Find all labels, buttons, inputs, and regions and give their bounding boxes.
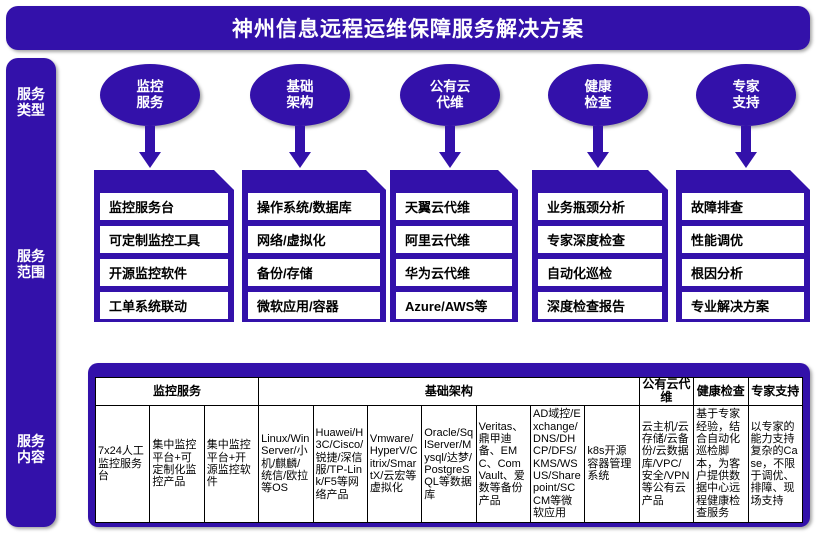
scope-item[interactable]: 微软应用/容器 [248,292,380,319]
row-label-rail: 服务 类型 服务 范围 服务 内容 [6,58,56,527]
table-cell[interactable]: Veritas、鼎甲迪备、EMC、ComVault、爱数等备份产品 [476,405,530,522]
category-node-public-cloud[interactable]: 公有云 代维 [400,64,500,126]
down-arrow-icon-4 [587,126,609,170]
table-header-monitoring: 监控服务 [96,378,259,406]
down-arrow-icon-1 [139,126,161,170]
scope-item[interactable]: Azure/AWS等 [396,292,512,319]
scope-item[interactable]: 自动化巡检 [538,259,662,286]
row-label-service-scope-line2: 范围 [6,264,56,280]
scope-card-infrastructure: 操作系统/数据库 网络/虚拟化 备份/存储 微软应用/容器 [242,170,386,322]
service-content-panel: 监控服务 基础架构 公有云代维 健康检查 专家支持 7x24人工监控服务台 集中… [88,363,810,527]
category-node-monitoring[interactable]: 监控 服务 [100,64,200,126]
scope-item[interactable]: 华为云代维 [396,259,512,286]
table-row: 7x24人工监控服务台 集中监控平台+可定制化监控产品 集中监控平台+开源监控软… [96,405,803,522]
down-arrow-icon-2 [289,126,311,170]
category-node-monitoring-line1: 监控 [137,79,164,95]
table-header-expert-support: 专家支持 [748,378,803,406]
scope-item[interactable]: 专业解决方案 [682,292,804,319]
category-node-infrastructure[interactable]: 基础 架构 [250,64,350,126]
scope-item[interactable]: 业务瓶颈分析 [538,193,662,220]
category-node-monitoring-line2: 服务 [137,95,164,111]
table-header-row: 监控服务 基础架构 公有云代维 健康检查 专家支持 [96,378,803,406]
row-label-service-scope-line1: 服务 [6,248,56,264]
down-arrow-icon-5 [735,126,757,170]
scope-item[interactable]: 故障排查 [682,193,804,220]
table-header-health-check: 健康检查 [694,378,748,406]
service-content-table: 监控服务 基础架构 公有云代维 健康检查 专家支持 7x24人工监控服务台 集中… [95,377,803,523]
category-node-infrastructure-line2: 架构 [287,95,314,111]
table-cell[interactable]: 云主机/云存储/云备份/云数据库/VPC/安全/VPN等公有云产品 [639,405,693,522]
scope-item[interactable]: 操作系统/数据库 [248,193,380,220]
table-cell[interactable]: 集中监控平台+可定制化监控产品 [150,405,204,522]
row-label-service-content: 服务 内容 [6,433,56,465]
category-node-expert-support-line2: 支持 [733,95,760,111]
category-node-expert-support-line1: 专家 [733,79,760,95]
table-cell[interactable]: 集中监控平台+开源监控软件 [204,405,258,522]
scope-item[interactable]: 根因分析 [682,259,804,286]
row-label-service-type-line2: 类型 [6,102,56,118]
row-label-service-type-line1: 服务 [6,86,56,102]
scope-item[interactable]: 可定制监控工具 [100,226,228,253]
table-cell[interactable]: 7x24人工监控服务台 [96,405,150,522]
scope-item[interactable]: 监控服务台 [100,193,228,220]
down-arrow-icon-3 [439,126,461,170]
scope-item[interactable]: 天翼云代维 [396,193,512,220]
category-node-public-cloud-line2: 代维 [430,95,471,111]
category-node-expert-support[interactable]: 专家 支持 [696,64,796,126]
scope-item[interactable]: 深度检查报告 [538,292,662,319]
category-node-public-cloud-line1: 公有云 [430,79,471,95]
table-cell[interactable]: AD域控/Exchange/DNS/DHCP/DFS/KMS/WSUS/Shar… [531,405,585,522]
table-cell[interactable]: 以专家的能力支持复杂的Case，不限于调优、排障、现场支持 [748,405,803,522]
category-node-infrastructure-line1: 基础 [287,79,314,95]
page-title-banner: 神州信息远程运维保障服务解决方案 [6,6,810,50]
scope-item[interactable]: 工单系统联动 [100,292,228,319]
scope-card-public-cloud: 天翼云代维 阿里云代维 华为云代维 Azure/AWS等 [390,170,518,322]
table-header-public-cloud: 公有云代维 [639,378,693,406]
category-node-health-check[interactable]: 健康 检查 [548,64,648,126]
scope-item[interactable]: 阿里云代维 [396,226,512,253]
scope-card-monitoring: 监控服务台 可定制监控工具 开源监控软件 工单系统联动 [94,170,234,322]
category-node-health-check-line1: 健康 [585,79,612,95]
row-label-service-scope: 服务 范围 [6,248,56,280]
table-header-infrastructure: 基础架构 [259,378,640,406]
row-label-service-content-line1: 服务 [6,433,56,449]
page-title: 神州信息远程运维保障服务解决方案 [232,13,584,43]
scope-item[interactable]: 网络/虚拟化 [248,226,380,253]
category-node-health-check-line2: 检查 [585,95,612,111]
scope-card-expert-support: 故障排查 性能调优 根因分析 专业解决方案 [676,170,810,322]
scope-item[interactable]: 备份/存储 [248,259,380,286]
scope-item[interactable]: 性能调优 [682,226,804,253]
table-cell[interactable]: Oracle/SqlServer/Mysql/达梦/PostgreSQL等数据库 [422,405,476,522]
table-cell[interactable]: 基于专家经验，结合自动化巡检脚本，为客户提供数据中心远程健康检查服务 [694,405,748,522]
scope-item[interactable]: 专家深度检查 [538,226,662,253]
table-cell[interactable]: Linux/Win Server/小机/麒麟/统信/欧拉等OS [259,405,313,522]
table-cell[interactable]: Vmware/HyperV/Citrix/SmartX/云宏等虚拟化 [367,405,421,522]
table-cell[interactable]: k8s开源容器管理系统 [585,405,639,522]
diagram-canvas: 神州信息远程运维保障服务解决方案 服务 类型 服务 范围 服务 内容 监控 服务… [0,0,816,533]
scope-item[interactable]: 开源监控软件 [100,259,228,286]
row-label-service-type: 服务 类型 [6,86,56,118]
table-cell[interactable]: Huawei/H3C/Cisco/锐捷/深信服/TP-Link/F5等网络产品 [313,405,367,522]
row-label-service-content-line2: 内容 [6,449,56,465]
scope-card-health-check: 业务瓶颈分析 专家深度检查 自动化巡检 深度检查报告 [532,170,668,322]
